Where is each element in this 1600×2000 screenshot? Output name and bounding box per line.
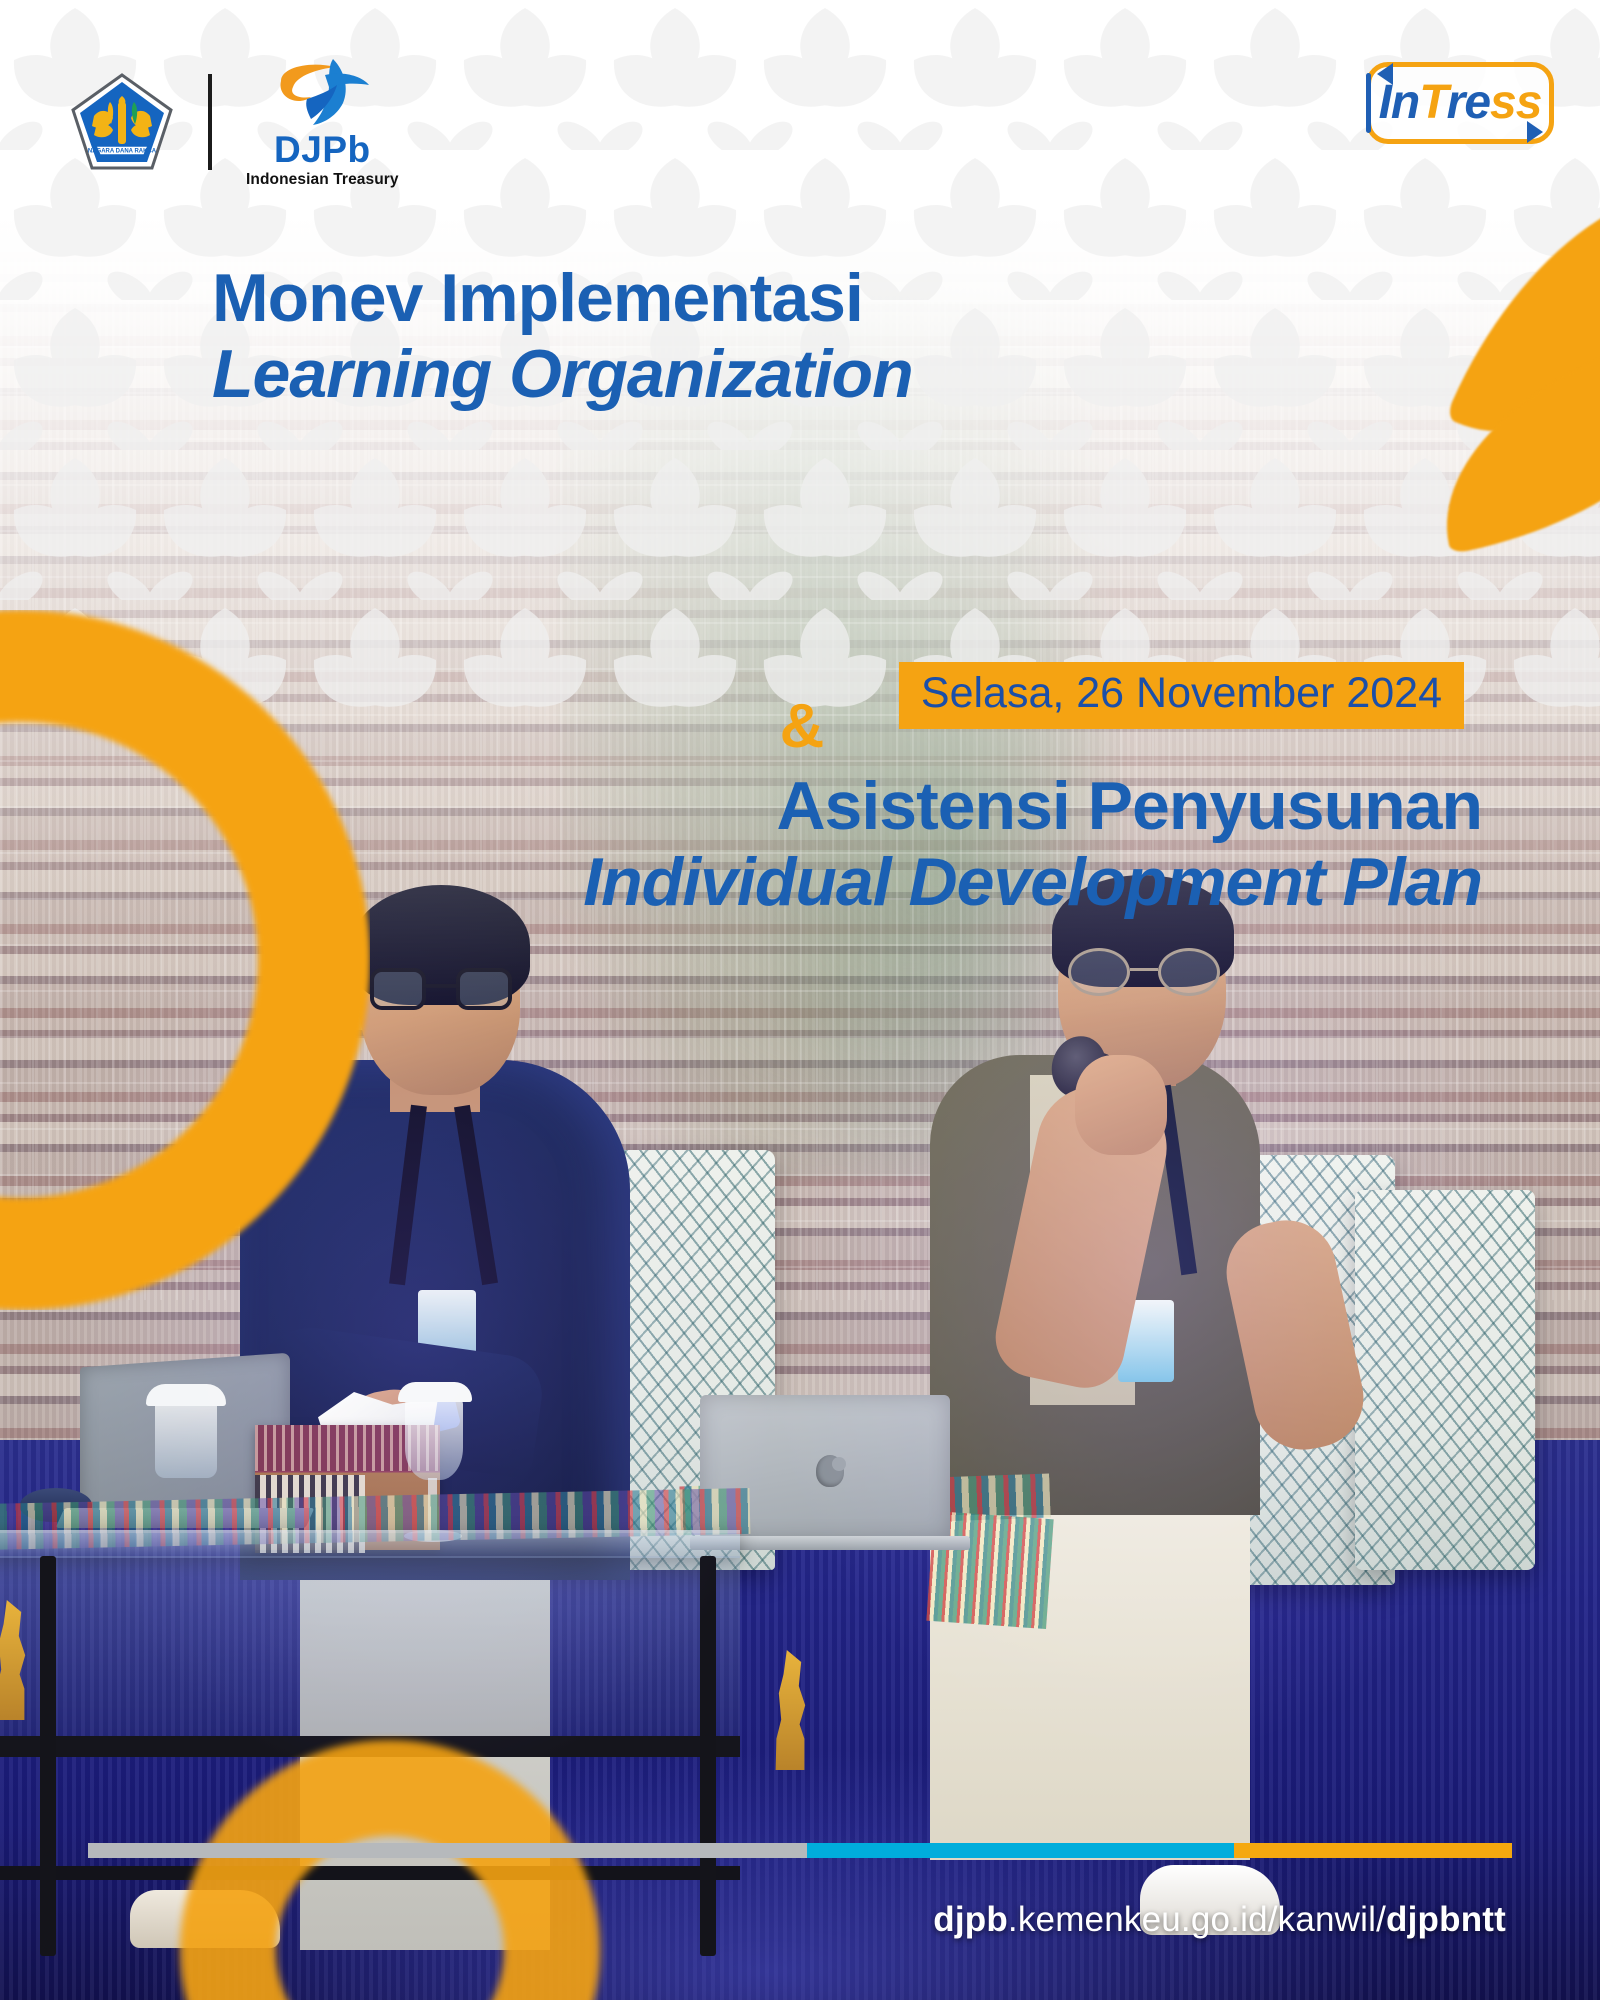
headline-block: Monev Implementasi Learning Organization… [212,262,1512,410]
footer-bar-gray [88,1843,807,1858]
kemenkeu-emblem-icon: NAGARA DANA RAKCA [70,72,174,172]
intress-part-re: re [1447,76,1490,129]
djpb-mark-icon [267,55,377,127]
intress-wordmark: InTress [1379,79,1542,127]
headline-line-3: Asistensi Penyusunan [212,770,1482,842]
headline-line-1: Monev Implementasi [212,262,1512,334]
website-url-prefix: djpb [933,1900,1008,1939]
footer-bar-orange [1234,1843,1512,1858]
event-flyer: NAGARA DANA RAKCA DJPb Indonesian Treasu… [0,0,1600,2000]
event-date-badge: Selasa, 26 November 2024 [899,662,1464,729]
logo-lockup: NAGARA DANA RAKCA DJPb Indonesian Treasu… [70,55,399,189]
logo-divider [208,74,212,170]
intress-part-t: T [1419,76,1446,129]
intress-left-edge [1366,73,1371,133]
headline-line-4: Individual Development Plan [212,846,1482,918]
website-url[interactable]: djpb.kemenkeu.go.id/kanwil/djpbntt [933,1900,1506,1940]
intress-arrow-bottom-right-icon [1527,121,1543,143]
intress-logo: InTress [1366,62,1554,144]
headline-block-2: Asistensi Penyusunan Individual Developm… [212,770,1512,918]
website-url-suffix: djpbntt [1386,1900,1506,1939]
headline-line-2: Learning Organization [212,338,1512,410]
svg-text:NAGARA DANA RAKCA: NAGARA DANA RAKCA [88,149,157,155]
djpb-wordmark: DJPb [274,131,371,168]
intress-arrow-top-left-icon [1377,63,1393,85]
footer-bar-cyan [807,1843,1234,1858]
djpb-logo-block: DJPb Indonesian Treasury [246,55,399,189]
footer-color-bar [88,1843,1512,1858]
website-url-middle: .kemenkeu.go.id/kanwil/ [1008,1900,1386,1939]
djpb-tagline: Indonesian Treasury [246,171,399,189]
